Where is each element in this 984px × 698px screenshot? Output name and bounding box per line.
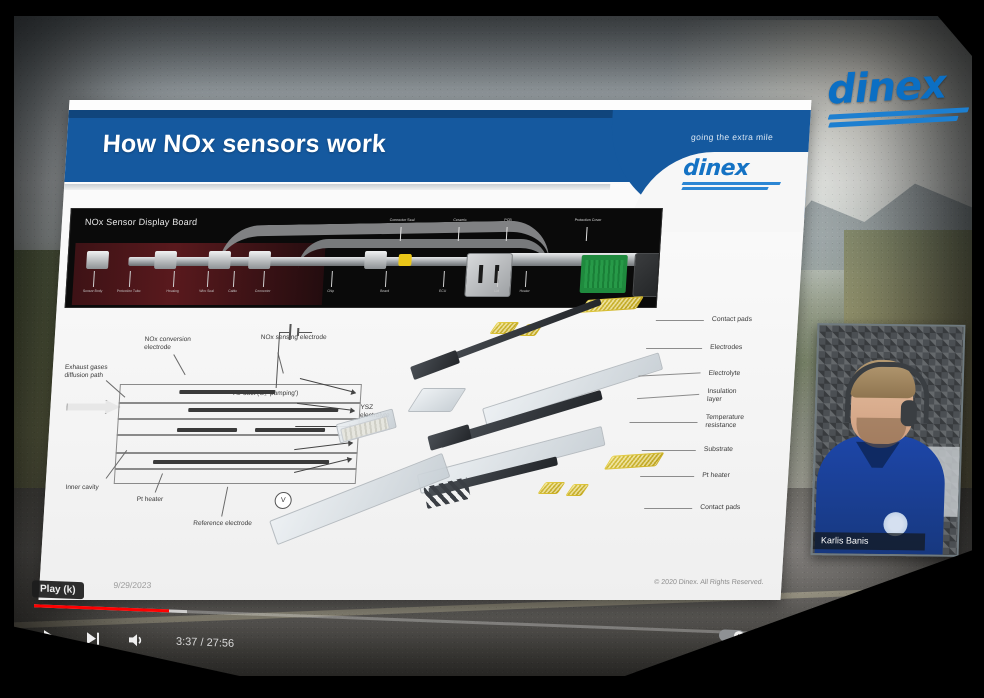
play-tooltip: Play (k) [32,580,84,599]
callout-substrate: Substrate [704,446,766,454]
photo-label: NOx Sensor Display Board [85,217,198,227]
video-player[interactable]: dinex How NOx sensors work going the ext… [8,14,976,674]
slide-logo-stripe-2 [681,187,769,190]
slide-title: How NOx sensors work [102,130,387,159]
label-inner-cavity: Inner cavity [65,484,139,492]
callout-temperature-resistance: Temperatureresistance [705,414,768,430]
slide-logo-wordmark: dinex [683,158,782,180]
label-nox-conversion-electrode: NOx conversionelectrode [144,336,219,352]
sensor-schematic: Exhaust gasesdiffusion path NOx conversi… [50,318,406,568]
label-exhaust-gases: Exhaust gasesdiffusion path [64,364,139,380]
presenter-name-bar: Karlis Banis [813,532,926,550]
battery-symbol [278,324,319,342]
frame-top [0,0,984,16]
slide-copyright: © 2020 Dinex. All Rights Reserved. [654,579,764,586]
slide-logo-stripe-1 [682,182,781,185]
frame-left [0,0,14,698]
label-pt-heater: Pt heater [136,496,210,504]
headset-band-icon [845,361,931,423]
display-board-photo: NOx Sensor Display Board Sensor Body Pro… [65,208,663,308]
callout-electrolyte: Electrolyte [708,370,770,378]
sensor-pcb [580,255,628,293]
presentation-slide: How NOx sensors work going the extra mil… [39,100,812,600]
slide-tagline: going the extra mile [691,132,774,142]
time-display: 3:37 / 27:56 [176,636,234,650]
callout-electrodes: Electrodes [710,344,772,352]
dinex-watermark-logo: dinex [826,62,970,147]
volume-button[interactable] [126,629,148,652]
presenter-name: Karlis Banis [821,535,869,546]
sensor-nut-2 [154,251,177,269]
sensor-nut-5 [364,251,387,269]
voltmeter-symbol: V [274,492,292,509]
sensor-nut-4 [248,251,271,269]
callout-contact-pads-top: Contact pads [712,316,774,324]
presenter-webcam: Karlis Banis [811,323,966,557]
exhaust-gas-arrow [66,400,121,414]
slide-dinex-logo: dinex [682,158,782,190]
sensor-nut-1 [86,251,109,269]
screenshot-root: dinex How NOx sensors work going the ext… [0,0,984,698]
progress-played [34,604,169,612]
callout-contact-pads-bottom: Contact pads [700,504,762,512]
watermark-wordmark: dinex [826,62,968,111]
callout-insulation-layer: Insulationlayer [707,388,770,404]
banner-underline [50,184,610,190]
headset-earcup-icon [900,400,917,426]
sensor-shaft [128,257,519,266]
callout-pt-heater: Pt heater [702,472,764,480]
yellow-connector [398,254,412,266]
sensor-nut-3 [208,251,231,269]
label-reference-electrode: Reference electrode [193,520,277,528]
exploded-sensor-view [369,296,687,586]
